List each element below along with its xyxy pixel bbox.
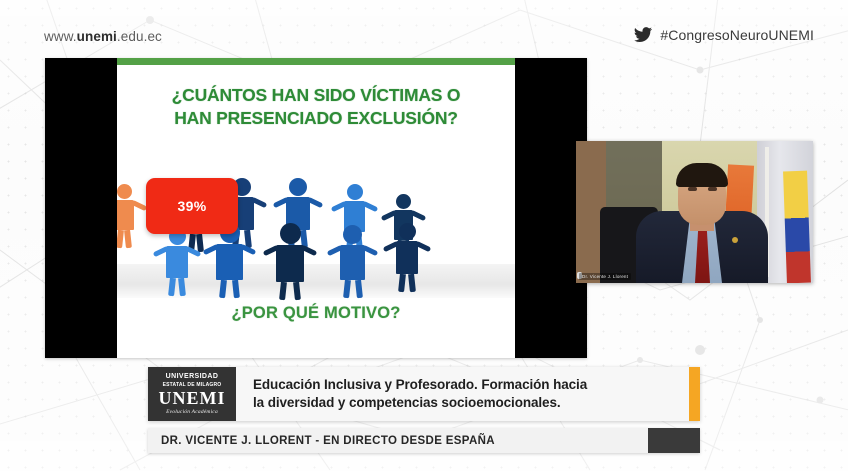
logo-line-universidad: UNIVERSIDAD xyxy=(166,373,219,381)
slide-subtitle: ¿POR QUÉ MOTIVO? xyxy=(108,304,524,323)
speaker-hair xyxy=(676,163,728,187)
figure-person xyxy=(396,223,418,292)
webcam-video-panel[interactable]: Dr. Vicente J. Llorent xyxy=(576,141,813,283)
twitter-bird-icon xyxy=(633,27,652,43)
figure-person xyxy=(340,225,365,298)
slide-title-line2: HAN PRESENCIADO EXCLUSIÓN? xyxy=(118,107,514,130)
speaker-lapel-pin xyxy=(732,237,738,243)
speaker-ticker-bar: DR. VICENTE J. LLORENT - EN DIRECTO DESD… xyxy=(148,428,700,453)
unemi-logo: UNIVERSIDAD ESTATAL DE MILAGRO UNEMI Evo… xyxy=(148,367,236,421)
hashtag-label: #CongresoNeuroUNEMI xyxy=(660,27,814,43)
figure-person-highlighted xyxy=(114,184,134,344)
figure-person xyxy=(276,223,304,300)
speaker-eye-right xyxy=(708,187,717,191)
twitter-handle-group: #CongresoNeuroUNEMI xyxy=(633,27,814,43)
ticker-text: DR. VICENTE J. LLORENT - EN DIRECTO DESD… xyxy=(148,435,648,447)
lower-third-title: Educación Inclusiva y Profesorado. Forma… xyxy=(236,367,689,421)
slide-content: ¿CUÁNTOS HAN SIDO VÍCTIMAS O HAN PRESENC… xyxy=(108,58,524,358)
video-speaker xyxy=(636,165,768,283)
lower-third-title-line2: la diversidad y competencias socioemocio… xyxy=(253,394,675,412)
figure-person xyxy=(216,223,243,298)
logo-line-estatal: ESTATAL DE MILAGRO xyxy=(163,382,222,388)
url-brand: unemi xyxy=(77,29,117,44)
logo-line-tagline: Evolución Académica xyxy=(166,409,218,415)
video-flag-ecuador xyxy=(783,171,811,283)
speaker-eye-left xyxy=(688,187,697,191)
website-url: www.unemi.edu.ec xyxy=(44,29,162,44)
url-prefix: www. xyxy=(44,29,77,44)
logo-line-unemi: UNEMI xyxy=(159,389,226,407)
slide-title: ¿CUÁNTOS HAN SIDO VÍCTIMAS O HAN PRESENC… xyxy=(118,84,514,130)
lower-third-banner: UNIVERSIDAD ESTATAL DE MILAGRO UNEMI Evo… xyxy=(148,367,700,421)
broadcast-screen: www.unemi.edu.ec #CongresoNeuroUNEMI ¿CU… xyxy=(0,0,848,471)
figure-person xyxy=(166,228,188,296)
slide-green-top-bar xyxy=(108,58,524,65)
lower-third-accent-bar xyxy=(689,367,700,421)
stat-badge: 39% xyxy=(146,178,238,234)
video-name-overlay: Dr. Vicente J. Llorent xyxy=(579,273,631,280)
lower-third-title-line1: Educación Inclusiva y Profesorado. Forma… xyxy=(253,376,675,394)
ticker-end-block xyxy=(648,428,700,453)
presentation-slide[interactable]: ¿CUÁNTOS HAN SIDO VÍCTIMAS O HAN PRESENC… xyxy=(45,58,587,358)
slide-title-line1: ¿CUÁNTOS HAN SIDO VÍCTIMAS O xyxy=(118,84,514,107)
url-suffix: .edu.ec xyxy=(117,29,162,44)
letterbox-left xyxy=(45,58,117,358)
stat-badge-value: 39% xyxy=(178,198,207,214)
